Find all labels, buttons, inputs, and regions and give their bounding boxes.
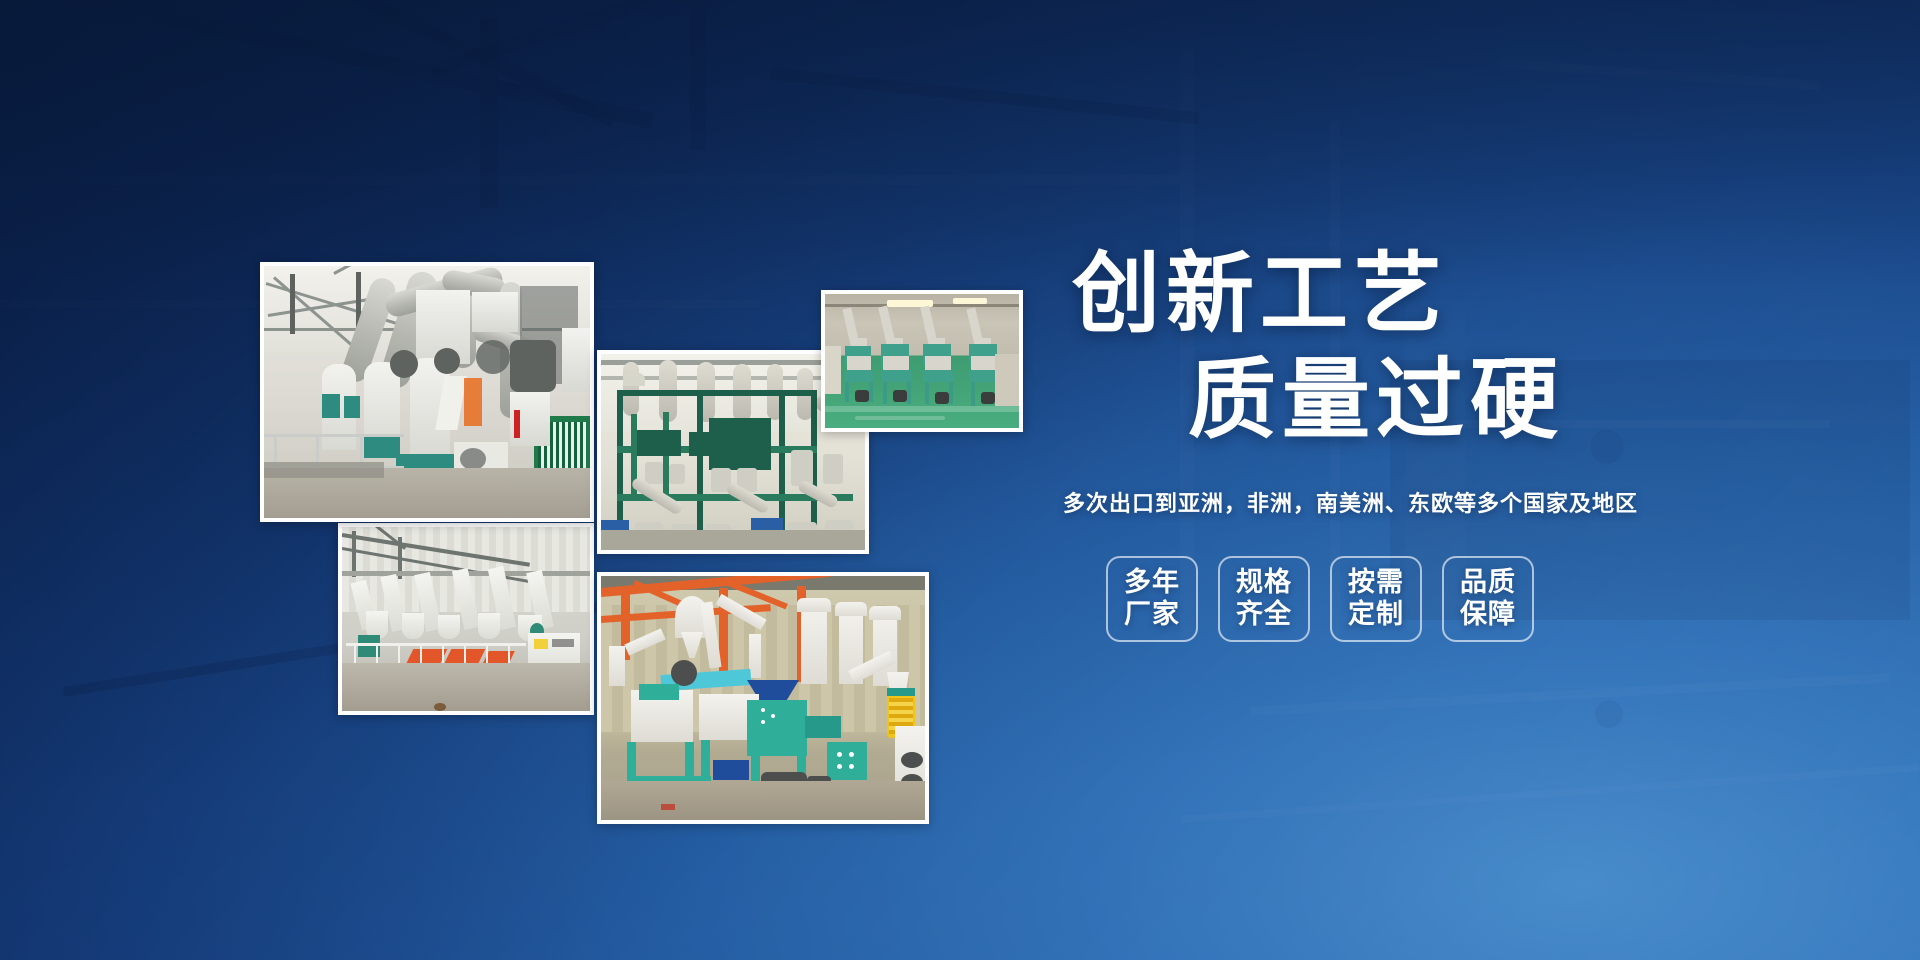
photo-teal-machines-orange-beams (597, 572, 929, 824)
feature-badge-full-specs[interactable]: 规格 齐全 (1218, 556, 1310, 642)
feature-badge-custom-made[interactable]: 按需 定制 (1330, 556, 1422, 642)
photo-grey-duct-mill-line (260, 262, 594, 522)
feature-badge-years-manufacturer[interactable]: 多年 厂家 (1106, 556, 1198, 642)
headline: 创新工艺 质量过硬 (1060, 250, 1820, 444)
badge-text-bottom: 齐全 (1236, 599, 1292, 631)
badge-text-top: 规格 (1236, 567, 1292, 599)
badge-text-top: 品质 (1460, 567, 1516, 599)
feature-badge-list: 多年 厂家 规格 齐全 按需 定制 品质 保障 (1060, 556, 1820, 642)
badge-text-bottom: 保障 (1460, 599, 1516, 631)
badge-text-top: 多年 (1124, 567, 1180, 599)
feature-badge-quality-guarantee[interactable]: 品质 保障 (1442, 556, 1534, 642)
subtitle: 多次出口到亚洲，非洲，南美洲、东欧等多个国家及地区 (1060, 486, 1820, 518)
headline-line-2: 质量过硬 (1060, 356, 1820, 444)
photo-white-line-orange-conveyor (338, 523, 594, 715)
badge-text-top: 按需 (1348, 567, 1404, 599)
banner-text-block: 创新工艺 质量过硬 多次出口到亚洲，非洲，南美洲、东欧等多个国家及地区 多年 厂… (1060, 250, 1820, 642)
badge-text-bottom: 定制 (1348, 599, 1404, 631)
promo-banner: 创新工艺 质量过硬 多次出口到亚洲，非洲，南美洲、东欧等多个国家及地区 多年 厂… (0, 0, 1920, 960)
photo-teal-machines-green-floor (821, 290, 1023, 432)
photo-collage (0, 0, 1100, 960)
badge-text-bottom: 厂家 (1124, 599, 1180, 631)
headline-line-1: 创新工艺 (1060, 250, 1820, 338)
